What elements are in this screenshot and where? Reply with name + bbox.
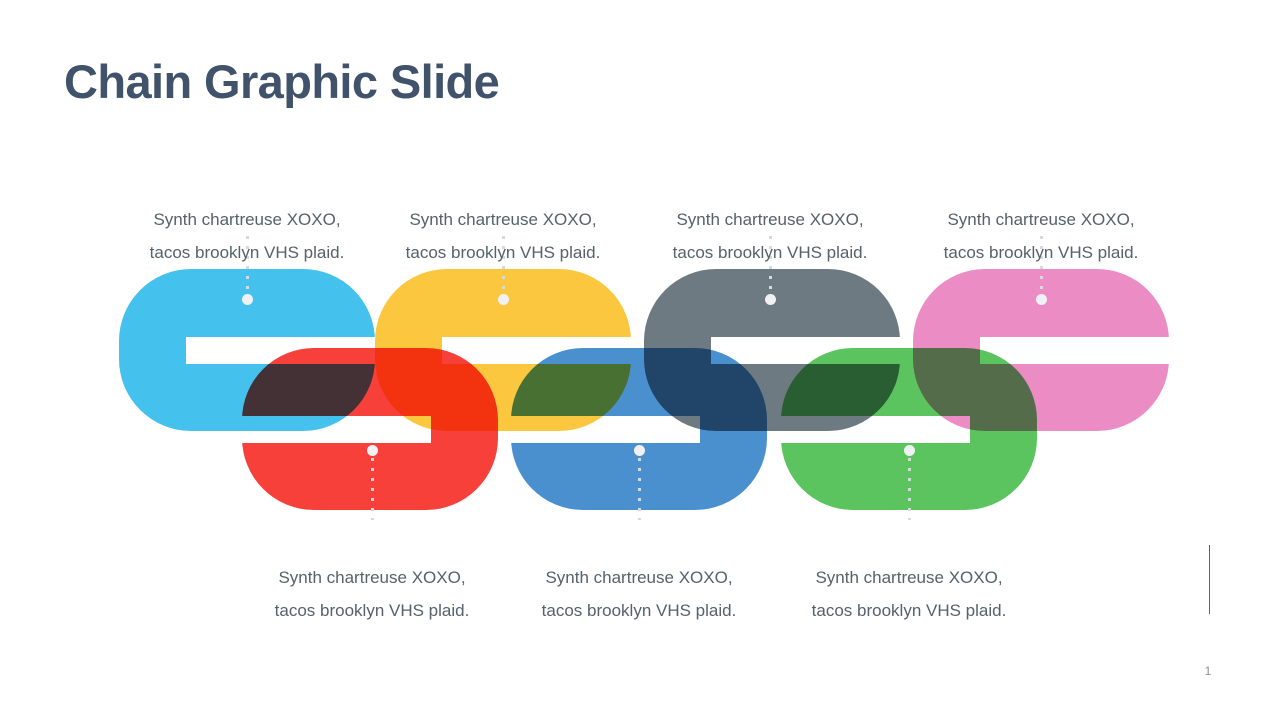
callout-text: Synth chartreuse XOXO, tacos brooklyn VH… [944, 210, 1139, 262]
callout-top-2: Synth chartreuse XOXO, tacos brooklyn VH… [378, 170, 628, 269]
chain-link-slot [216, 416, 431, 443]
connector-dot-top-3 [765, 294, 776, 305]
callout-top-4: Synth chartreuse XOXO, tacos brooklyn VH… [916, 170, 1166, 269]
callout-bottom-2: Synth chartreuse XOXO, tacos brooklyn VH… [514, 528, 764, 627]
footer-divider [1209, 545, 1210, 614]
callout-bottom-1: Synth chartreuse XOXO, tacos brooklyn VH… [247, 528, 497, 627]
callout-text: Synth chartreuse XOXO, tacos brooklyn VH… [150, 210, 345, 262]
chain-link-slot [980, 337, 1195, 364]
chain-link-slot [485, 416, 700, 443]
callout-text: Synth chartreuse XOXO, tacos brooklyn VH… [275, 568, 470, 620]
callout-top-1: Synth chartreuse XOXO, tacos brooklyn VH… [122, 170, 372, 269]
chain-link-slot [755, 416, 970, 443]
callout-top-3: Synth chartreuse XOXO, tacos brooklyn VH… [645, 170, 895, 269]
callout-text: Synth chartreuse XOXO, tacos brooklyn VH… [406, 210, 601, 262]
connector-dot-top-4 [1036, 294, 1047, 305]
connector-line-bottom-2 [638, 458, 641, 520]
connector-dot-bottom-2 [634, 445, 645, 456]
callout-text: Synth chartreuse XOXO, tacos brooklyn VH… [542, 568, 737, 620]
connector-dot-bottom-1 [367, 445, 378, 456]
page-number: 1 [1196, 664, 1220, 678]
connector-dot-top-1 [242, 294, 253, 305]
connector-dot-top-2 [498, 294, 509, 305]
connector-dot-bottom-3 [904, 445, 915, 456]
connector-line-bottom-1 [371, 458, 374, 520]
callout-text: Synth chartreuse XOXO, tacos brooklyn VH… [812, 568, 1007, 620]
connector-line-bottom-3 [908, 458, 911, 520]
callout-text: Synth chartreuse XOXO, tacos brooklyn VH… [673, 210, 868, 262]
callout-bottom-3: Synth chartreuse XOXO, tacos brooklyn VH… [784, 528, 1034, 627]
slide-canvas: Chain Graphic Slide [0, 0, 1280, 720]
